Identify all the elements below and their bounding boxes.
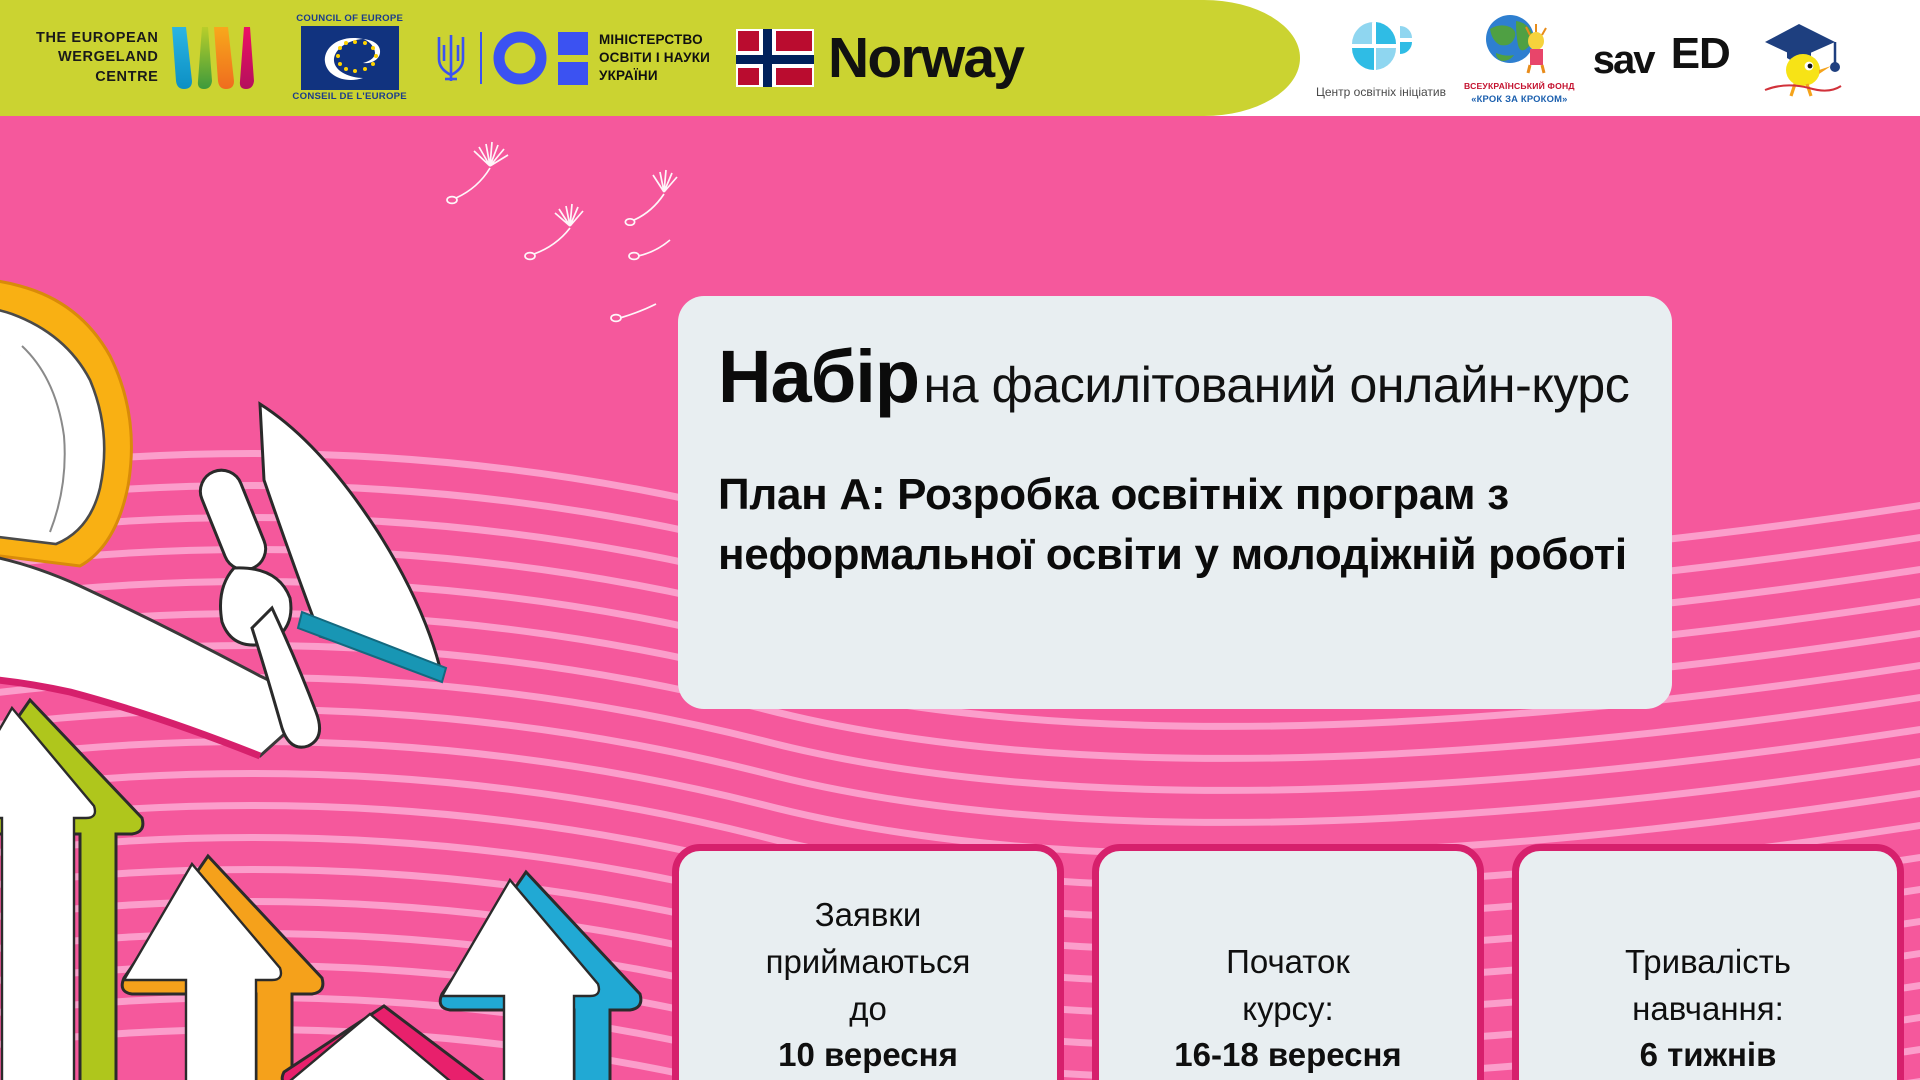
norway-wordmark: Norway bbox=[828, 30, 1023, 87]
tryzub-icon bbox=[433, 29, 469, 87]
mon-squares-icon bbox=[558, 32, 588, 85]
deadline-line-1: Заявки bbox=[815, 892, 922, 939]
ewc-line-1: THE EUROPEAN bbox=[36, 29, 158, 48]
page-title-strong: Набір bbox=[718, 335, 919, 418]
course-start-card: Початок курсу: 16-18 вересня bbox=[1092, 844, 1484, 1080]
ewc-w-mark-icon bbox=[170, 25, 266, 91]
header-left-logos: THE EUROPEAN WERGELAND CENTRE bbox=[0, 0, 1300, 116]
course-subtitle: План А: Розробка освітніх програм з нефо… bbox=[718, 465, 1632, 586]
saved-ed-text: ED bbox=[1671, 29, 1730, 79]
duration-line-2: навчання: bbox=[1632, 986, 1784, 1033]
deadline-line-3: до bbox=[849, 986, 887, 1033]
start-date: 16-18 вересня bbox=[1174, 1032, 1401, 1079]
step-by-step-foundation-logo: ВСЕУКРАЇНСЬКИЙ ФОНД «КРОК ЗА КРОКОМ» bbox=[1464, 13, 1575, 104]
sponsor-header: THE EUROPEAN WERGELAND CENTRE bbox=[0, 0, 1920, 116]
coe-emblem-icon bbox=[301, 26, 399, 90]
mon-line-1: МІНІСТЕРСТВО bbox=[599, 31, 710, 49]
ewc-line-2: WERGELAND bbox=[36, 48, 158, 67]
header-right-logos: Центр освітніх ініціатив ВСЕУКРАЇНСЬКИЙ … bbox=[1300, 0, 1920, 116]
saved-logo: sav ED bbox=[1593, 27, 1733, 89]
deadline-line-2: приймаються bbox=[766, 939, 971, 986]
mon-circle-icon bbox=[493, 31, 547, 85]
norway-flag-icon bbox=[736, 29, 814, 87]
norway-grants-logo: Norway bbox=[736, 29, 1023, 87]
course-duration-card: Тривалість навчання: 6 тижнів bbox=[1512, 844, 1904, 1080]
poster-canvas: Набір на фасилітований онлайн-курс План … bbox=[0, 116, 1920, 1080]
duration-value: 6 тижнів bbox=[1640, 1032, 1777, 1079]
coe-caption: COUNCIL OF EUROPE bbox=[296, 13, 403, 25]
coi-caption: Центр освітніх ініціатив bbox=[1316, 85, 1446, 99]
globe-child-icon bbox=[1480, 13, 1558, 79]
ewc-logo-text: THE EUROPEAN WERGELAND CENTRE bbox=[36, 29, 158, 86]
page-title-light: на фасилітований онлайн-курс bbox=[924, 357, 1630, 413]
coe-flag-icon bbox=[301, 26, 399, 90]
start-line-2: курсу: bbox=[1242, 986, 1333, 1033]
mon-logo-text: МІНІСТЕРСТВО ОСВІТИ І НАУКИ УКРАЇНИ bbox=[599, 31, 710, 84]
mon-divider bbox=[480, 32, 482, 84]
info-cards-row: Заявки приймаються до 10 вересня 2025 По… bbox=[672, 844, 1904, 1080]
coi-mark-icon bbox=[1338, 18, 1424, 80]
chick-graduate-icon bbox=[1751, 16, 1847, 100]
upward-arrows-illustration bbox=[0, 686, 650, 1080]
main-title-card: Набір на фасилітований онлайн-курс План … bbox=[678, 296, 1672, 709]
deadline-date: 10 вересня bbox=[778, 1032, 958, 1079]
ewc-line-3: CENTRE bbox=[36, 68, 158, 87]
sbs-line-2: «КРОК ЗА КРОКОМ» bbox=[1471, 93, 1567, 104]
course-subtitle-line-2: неформальної освіти у молодіжній роботі bbox=[718, 525, 1632, 585]
applications-deadline-card: Заявки приймаються до 10 вересня 2025 bbox=[672, 844, 1064, 1080]
mon-line-2: ОСВІТИ І НАУКИ bbox=[599, 49, 710, 67]
course-subtitle-line-1: План А: Розробка освітніх програм з bbox=[718, 465, 1632, 525]
start-line-1: Початок bbox=[1226, 939, 1350, 986]
title-row: Набір на фасилітований онлайн-курс bbox=[718, 334, 1632, 419]
ministry-of-education-ukraine-logo: МІНІСТЕРСТВО ОСВІТИ І НАУКИ УКРАЇНИ bbox=[433, 29, 710, 87]
poster-root: THE EUROPEAN WERGELAND CENTRE bbox=[0, 0, 1920, 1080]
european-wergeland-centre-logo: THE EUROPEAN WERGELAND CENTRE bbox=[36, 25, 266, 91]
mon-line-3: УКРАЇНИ bbox=[599, 67, 710, 85]
coe-footer: CONSEIL DE L'EUROPE bbox=[292, 91, 407, 103]
saved-sav-text: sav bbox=[1593, 38, 1654, 83]
council-of-europe-logo: COUNCIL OF EUROPE bbox=[292, 13, 407, 103]
sbs-line-1: ВСЕУКРАЇНСЬКИЙ ФОНД bbox=[1464, 81, 1575, 91]
center-of-educational-initiatives-logo: Центр освітніх ініціатив bbox=[1316, 18, 1446, 99]
duration-line-1: Тривалість bbox=[1625, 939, 1791, 986]
